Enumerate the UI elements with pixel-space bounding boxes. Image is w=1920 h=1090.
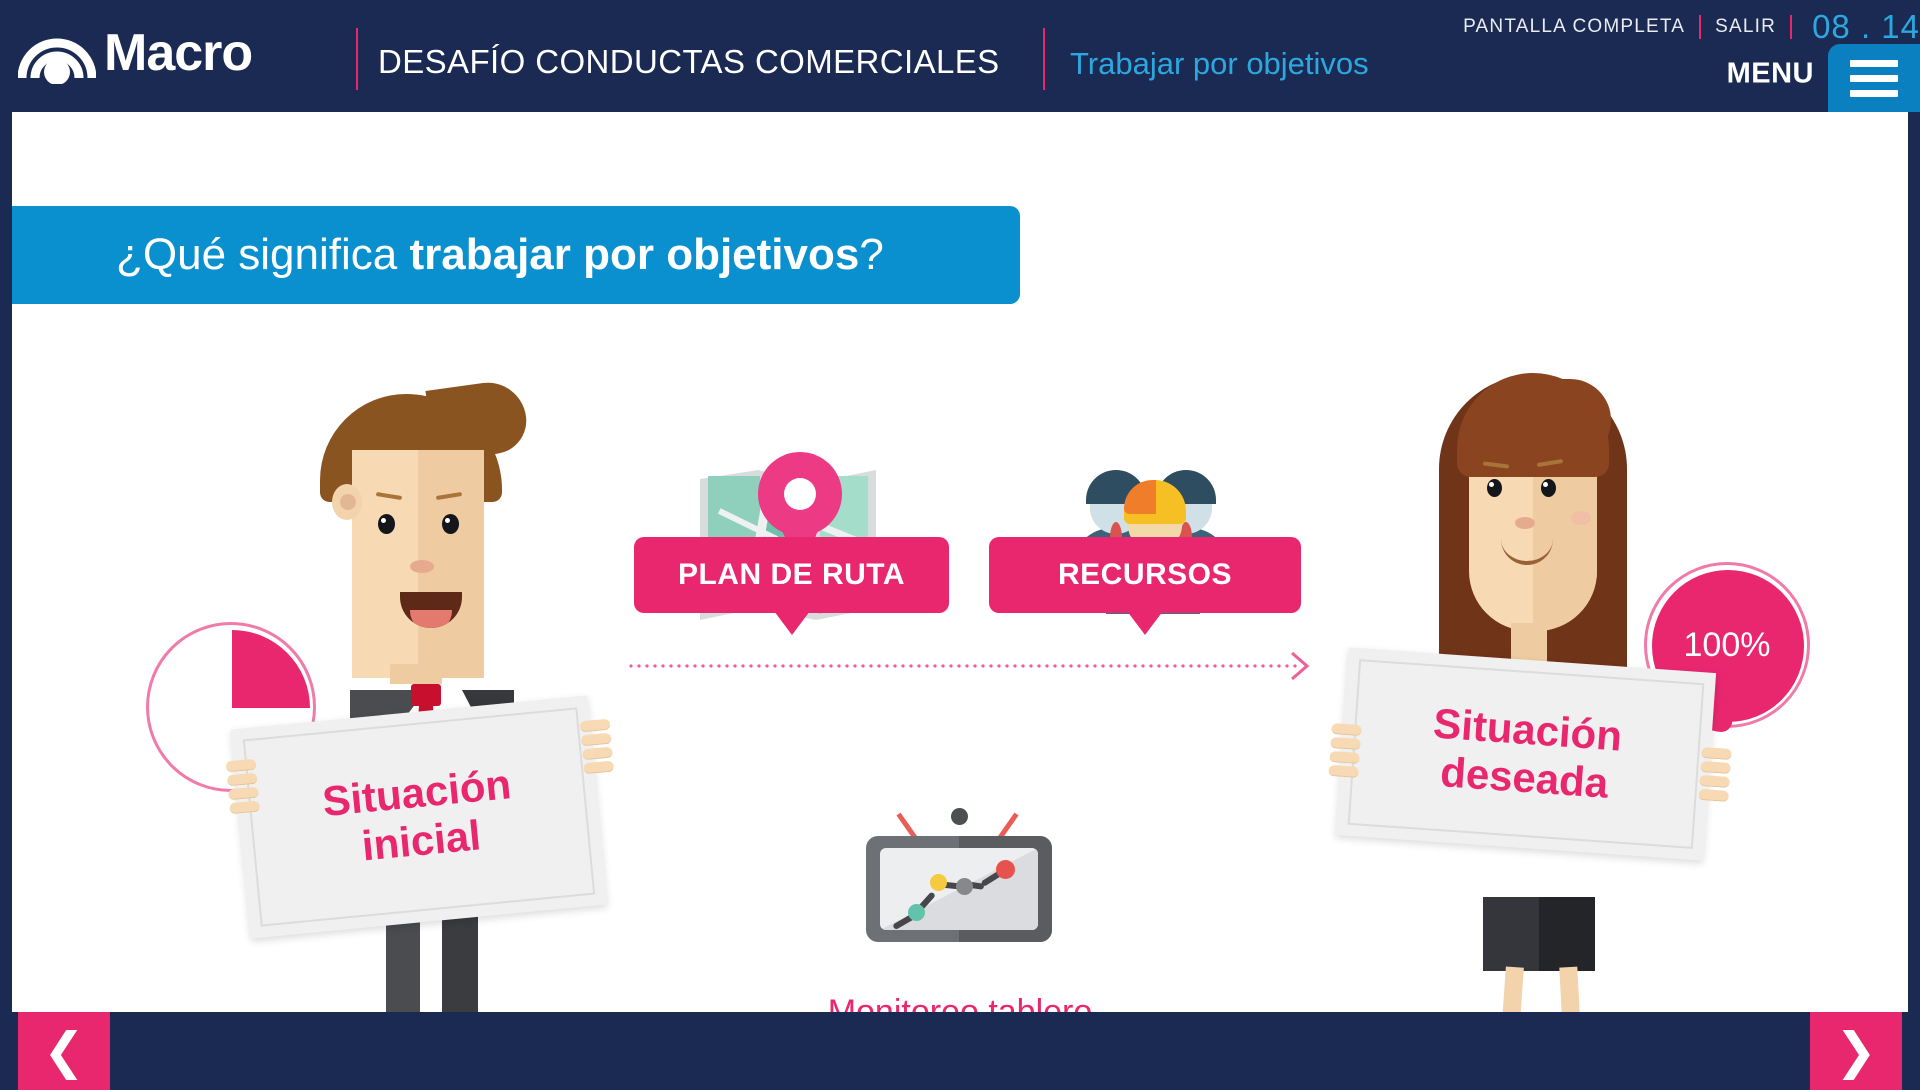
male-eye-glint-right	[445, 518, 450, 523]
female-hair-bang	[1513, 379, 1611, 461]
sign-desired-situation: Situación deseada	[1336, 647, 1716, 860]
finger	[1329, 751, 1360, 764]
board-hanger-knob	[951, 808, 968, 825]
hamburger-bar	[1850, 60, 1898, 67]
presentation-viewer: Macro DESAFÍO CONDUCTAS COMERCIALES Trab…	[0, 0, 1920, 1090]
board-caption-line1: Monitoreo tablero	[772, 992, 1148, 1012]
slide-title-suffix: ?	[859, 230, 883, 279]
flow-dotted-line	[627, 664, 1299, 668]
female-nose	[1515, 517, 1535, 529]
button-tail	[774, 611, 810, 635]
male-hand-right	[580, 719, 615, 777]
board-data-point	[908, 904, 925, 921]
button-plan-de-ruta[interactable]: PLAN DE RUTA	[634, 537, 949, 613]
course-title: DESAFÍO CONDUCTAS COMERCIALES	[378, 43, 1000, 81]
app-header: Macro DESAFÍO CONDUCTAS COMERCIALES Trab…	[0, 0, 1920, 112]
button-recursos-label: RECURSOS	[1058, 558, 1232, 592]
prev-glyph: ❮	[43, 1026, 85, 1076]
slide-title: ¿Qué significa trabajar por objetivos?	[12, 230, 884, 280]
sign-initial-line2: inicial	[360, 811, 483, 870]
finger	[1328, 765, 1359, 778]
header-divider-4	[1790, 15, 1792, 39]
next-glyph: ❯	[1835, 1026, 1877, 1076]
finger	[580, 719, 611, 733]
finger	[1699, 775, 1730, 788]
male-hand-left	[226, 759, 261, 817]
button-plan-de-ruta-label: PLAN DE RUTA	[678, 558, 905, 592]
finger	[229, 801, 260, 815]
board-data-point	[996, 860, 1015, 879]
clock-display: 08 . 14	[1812, 8, 1920, 46]
board-data-point	[956, 878, 973, 895]
menu-label: MENU	[1727, 58, 1814, 91]
sign-initial-label: Situación inicial	[231, 695, 607, 938]
chevron-right-icon[interactable]: ❯	[1810, 1012, 1902, 1090]
fullscreen-button[interactable]: PANTALLA COMPLETA	[1463, 16, 1685, 38]
board-data-point	[930, 874, 947, 891]
finger	[227, 773, 258, 787]
finger	[1701, 747, 1732, 760]
app-footer: ❮ ❯	[0, 1012, 1920, 1090]
male-tongue	[410, 610, 452, 628]
female-hand-left	[1328, 723, 1362, 781]
sign-desired-label: Situación deseada	[1336, 647, 1716, 860]
male-eye-right	[442, 514, 459, 534]
female-eye-glint-left	[1489, 482, 1494, 487]
pin-hole	[784, 478, 816, 510]
finger	[226, 759, 257, 773]
brand-logo: Macro	[18, 22, 252, 84]
female-cheek	[1571, 511, 1591, 525]
board-caption: Monitoreo tablero de control	[772, 992, 1148, 1012]
exit-button[interactable]: SALIR	[1715, 16, 1776, 38]
brand-name: Macro	[104, 25, 252, 81]
button-tail	[1127, 611, 1163, 635]
slide-title-prefix: ¿Qué significa	[116, 230, 409, 279]
hamburger-bar	[1850, 75, 1898, 82]
finger	[1330, 737, 1361, 750]
header-divider-2	[1043, 28, 1045, 90]
finger	[1331, 723, 1362, 736]
male-eye-left	[378, 514, 395, 534]
module-title: Trabajar por objetivos	[1070, 46, 1369, 82]
female-hand-right	[1698, 747, 1732, 805]
arrow-right-icon	[1290, 651, 1310, 681]
hamburger-icon[interactable]	[1828, 44, 1920, 112]
finger	[582, 747, 613, 761]
header-divider-1	[356, 28, 358, 90]
chevron-left-icon[interactable]: ❮	[18, 1012, 110, 1090]
finger	[583, 761, 614, 775]
button-recursos[interactable]: RECURSOS	[989, 537, 1301, 613]
slide-title-emphasis: trabajar por objetivos	[409, 230, 859, 279]
finger	[1698, 789, 1729, 802]
hamburger-bar	[1850, 90, 1898, 97]
male-eye-glint-left	[381, 518, 386, 523]
male-ear-inner	[340, 494, 356, 510]
finger	[581, 733, 612, 747]
female-eye-glint-right	[1543, 482, 1548, 487]
female-leg-left	[1496, 967, 1524, 1012]
header-actions: PANTALLA COMPLETA SALIR 08 . 14	[1463, 8, 1920, 46]
male-nose	[410, 560, 434, 573]
finger	[1700, 761, 1731, 774]
female-leg-right	[1559, 967, 1584, 1012]
macro-arc-logo-icon	[18, 22, 96, 84]
dashboard-chart-icon	[866, 812, 1052, 942]
slide-canvas: ¿Qué significa trabajar por objetivos?	[12, 112, 1908, 1012]
finger	[228, 787, 259, 801]
female-skirt-shade	[1539, 897, 1595, 971]
slide-title-banner: ¿Qué significa trabajar por objetivos?	[12, 206, 1020, 304]
sign-initial-situation: Situación inicial	[231, 695, 607, 938]
header-divider-3	[1699, 15, 1701, 39]
